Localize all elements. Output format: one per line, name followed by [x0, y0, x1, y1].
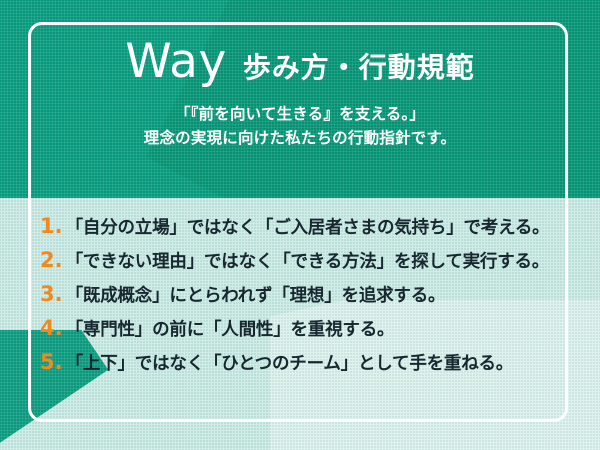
list-item-number: 4.	[40, 316, 63, 340]
list-item-text: 「できない理由」ではなく「できる方法」を探して実行する。	[66, 248, 550, 273]
list-item-number: 1.	[40, 214, 63, 238]
title-row: Way 歩み方・行動規範	[0, 38, 600, 85]
list-item-text: 「専門性」の前に「人間性」を重視する。	[66, 316, 395, 341]
guideline-list: 1. 「自分の立場」ではなく「ご入居者さまの気持ち」で考える。 2. 「できない…	[40, 214, 570, 384]
subtitle-line-1: 「『前を向いて生きる』を支える。」	[0, 103, 600, 127]
list-item-number: 5.	[40, 350, 63, 374]
list-item: 2. 「できない理由」ではなく「できる方法」を探して実行する。	[40, 248, 570, 282]
list-item-text: 「既成概念」にとらわれず「理想」を追求する。	[66, 282, 446, 307]
subtitle: 「『前を向いて生きる』を支える。」 理念の実現に向けた私たちの行動指針です。	[0, 103, 600, 151]
list-item-number: 2.	[40, 248, 63, 272]
page-title-japanese: 歩み方・行動規範	[243, 54, 475, 82]
list-item-number: 3.	[40, 282, 63, 306]
list-item-text: 「自分の立場」ではなく「ご入居者さまの気持ち」で考える。	[66, 214, 550, 239]
list-item: 5. 「上下」ではなく「ひとつのチーム」として手を重ねる。	[40, 350, 570, 384]
list-item-text: 「上下」ではなく「ひとつのチーム」として手を重ねる。	[66, 350, 514, 375]
list-item: 3. 「既成概念」にとらわれず「理想」を追求する。	[40, 282, 570, 316]
list-item: 4. 「専門性」の前に「人間性」を重視する。	[40, 316, 570, 350]
poster-header: Way 歩み方・行動規範 「『前を向いて生きる』を支える。」 理念の実現に向けた…	[0, 38, 600, 151]
page-title-english: Way	[125, 38, 227, 85]
way-poster: Way 歩み方・行動規範 「『前を向いて生きる』を支える。」 理念の実現に向けた…	[0, 0, 600, 450]
subtitle-line-2: 理念の実現に向けた私たちの行動指針です。	[0, 127, 600, 151]
list-item: 1. 「自分の立場」ではなく「ご入居者さまの気持ち」で考える。	[40, 214, 570, 248]
